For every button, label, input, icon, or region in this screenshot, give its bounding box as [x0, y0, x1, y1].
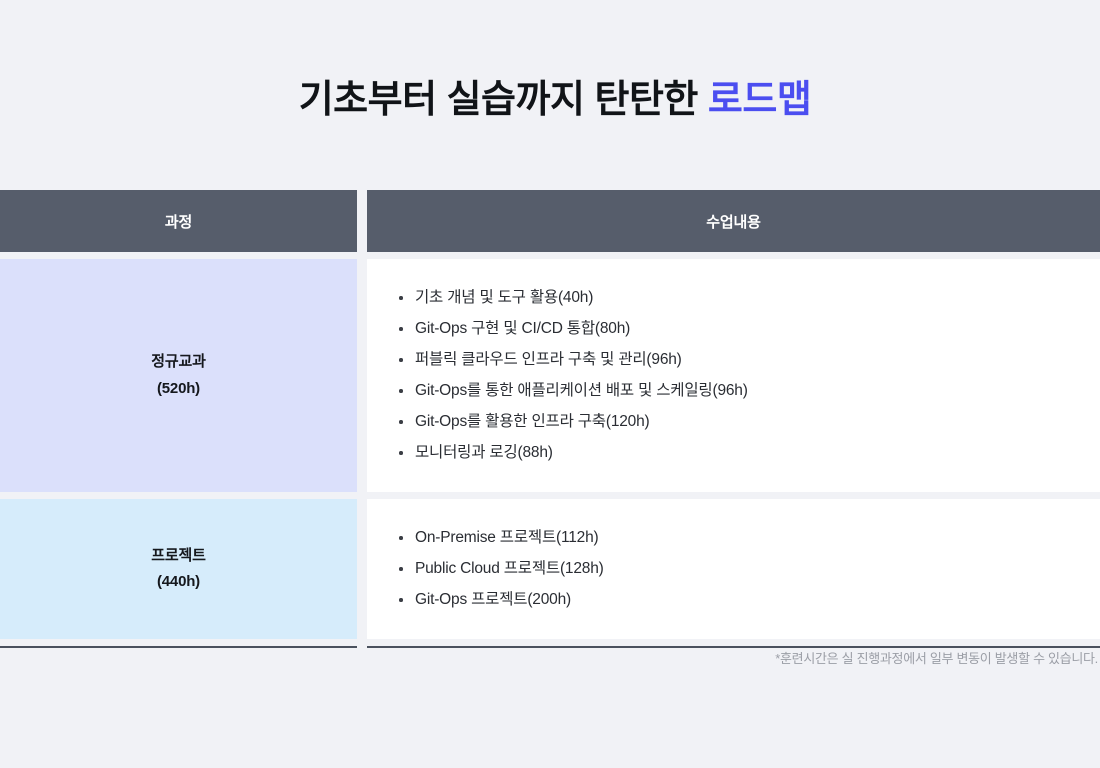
list-item: On-Premise 프로젝트(112h): [395, 526, 1100, 550]
header-body-spacer: [0, 252, 1100, 259]
category-name: 정규교과: [151, 349, 205, 375]
category-hours: (440h): [157, 569, 200, 595]
curriculum-item-list: 기초 개념 및 도구 활용(40h) Git-Ops 구현 및 CI/CD 통합…: [395, 279, 1100, 472]
page-title-lead: 기초부터 실습까지 탄탄한: [299, 79, 708, 121]
page-title-accent: 로드맵: [708, 79, 811, 121]
curriculum-table: 과정 수업내용 정규교과 (520h) 기초 개념 및 도구 활용(40h) G…: [0, 190, 1100, 648]
column-gap: [357, 259, 367, 492]
table-header-course: 과정: [0, 190, 357, 252]
row-spacer: [0, 639, 1100, 646]
column-gap: [357, 190, 367, 252]
row-spacer: [0, 492, 1100, 499]
row-content-cell: 기초 개념 및 도구 활용(40h) Git-Ops 구현 및 CI/CD 통합…: [367, 259, 1100, 492]
list-item: Public Cloud 프로젝트(128h): [395, 557, 1100, 581]
row-category-cell: 정규교과 (520h): [0, 259, 357, 492]
footnote-text: *훈련시간은 실 진행과정에서 일부 변동이 발생할 수 있습니다.: [0, 648, 1100, 667]
list-item: Git-Ops를 활용한 인프라 구축(120h): [395, 410, 1100, 434]
list-item: 기초 개념 및 도구 활용(40h): [395, 286, 1100, 310]
list-item: Git-Ops를 통한 애플리케이션 배포 및 스케일링(96h): [395, 379, 1100, 403]
column-gap: [357, 499, 367, 639]
table-row: 정규교과 (520h) 기초 개념 및 도구 활용(40h) Git-Ops 구…: [0, 259, 1100, 492]
row-category-cell: 프로젝트 (440h): [0, 499, 357, 639]
list-item: 모니터링과 로깅(88h): [395, 441, 1100, 465]
curriculum-item-list: On-Premise 프로젝트(112h) Public Cloud 프로젝트(…: [395, 519, 1100, 619]
list-item: Git-Ops 구현 및 CI/CD 통합(80h): [395, 317, 1100, 341]
table-header-content: 수업내용: [367, 190, 1100, 252]
table-header-row: 과정 수업내용: [0, 190, 1100, 252]
list-item: Git-Ops 프로젝트(200h): [395, 588, 1100, 612]
roadmap-page: 기초부터 실습까지 탄탄한 로드맵 과정 수업내용 정규교과 (520h) 기초…: [0, 0, 1100, 768]
row-content-cell: On-Premise 프로젝트(112h) Public Cloud 프로젝트(…: [367, 499, 1100, 639]
list-item: 퍼블릭 클라우드 인프라 구축 및 관리(96h): [395, 348, 1100, 372]
table-row: 프로젝트 (440h) On-Premise 프로젝트(112h) Public…: [0, 499, 1100, 639]
category-name: 프로젝트: [151, 543, 205, 569]
page-title: 기초부터 실습까지 탄탄한 로드맵: [289, 68, 812, 123]
page-title-section: 기초부터 실습까지 탄탄한 로드맵: [0, 0, 1100, 190]
category-hours: (520h): [157, 376, 200, 402]
